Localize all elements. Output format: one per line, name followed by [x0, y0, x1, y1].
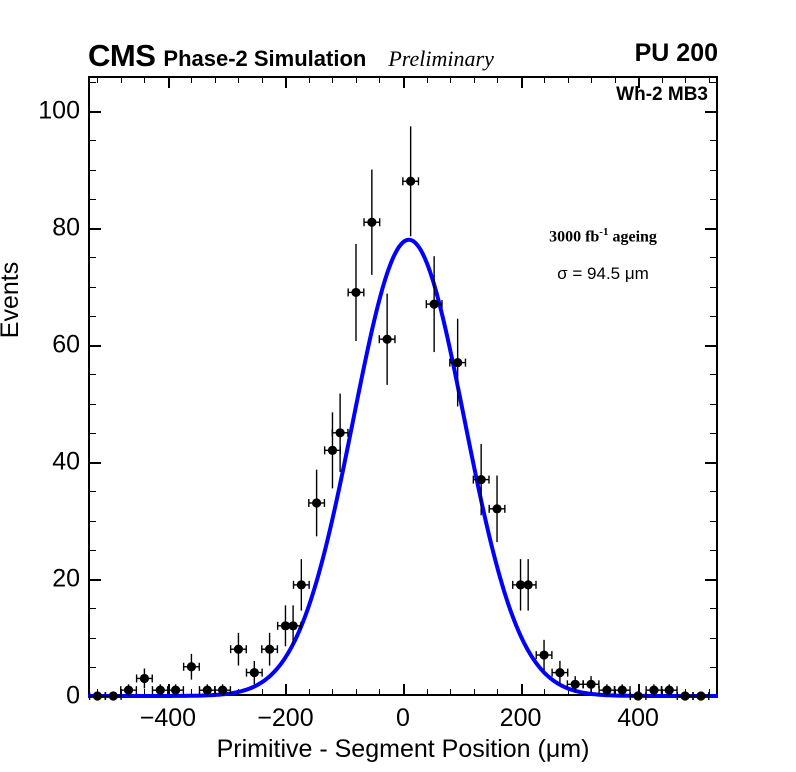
plot-panel: Wh-2 MB3 3000 fb-1 ageing σ = 94.5 μm: [88, 76, 718, 696]
cms-header-left: CMS Phase-2 Simulation Preliminary: [88, 40, 494, 71]
y-tick-major-right: [705, 111, 718, 113]
x-tick-major-top: [403, 76, 405, 88]
x-tick-minor: [215, 689, 216, 696]
y-tick-minor-right: [710, 287, 718, 288]
x-tick-major-top: [285, 76, 287, 88]
y-tick-minor-right: [710, 316, 718, 317]
x-tick-label: 400: [617, 704, 659, 733]
x-tick-minor-top: [97, 76, 98, 83]
y-tick-minor: [88, 404, 96, 405]
y-tick-minor-right: [710, 82, 718, 83]
y-tick-minor: [88, 638, 96, 639]
x-tick-minor: [97, 689, 98, 696]
x-tick-minor-top: [685, 76, 686, 83]
x-tick-minor: [709, 689, 710, 696]
x-tick-label: −200: [257, 704, 313, 733]
y-tick-major-right: [705, 462, 718, 464]
x-tick-label: 200: [500, 704, 542, 733]
y-tick-label: 20: [22, 565, 80, 594]
x-tick-minor: [591, 689, 592, 696]
y-tick-minor-right: [710, 140, 718, 141]
y-tick-minor: [88, 608, 96, 609]
x-tick-minor-top: [427, 76, 428, 83]
y-tick-minor: [88, 433, 96, 434]
y-tick-minor-right: [710, 638, 718, 639]
x-tick-minor: [568, 689, 569, 696]
y-tick-major: [88, 462, 101, 464]
pileup-label: PU 200: [635, 40, 718, 68]
x-tick-major-top: [168, 76, 170, 88]
x-tick-minor-top: [497, 76, 498, 83]
y-tick-minor: [88, 521, 96, 522]
y-tick-major: [88, 228, 101, 230]
x-tick-minor-top: [474, 76, 475, 83]
y-tick-minor: [88, 667, 96, 668]
y-tick-minor-right: [710, 404, 718, 405]
x-tick-minor: [615, 689, 616, 696]
x-tick-minor: [332, 689, 333, 696]
x-tick-major: [521, 684, 523, 696]
y-tick-minor-right: [710, 257, 718, 258]
x-tick-minor-top: [544, 76, 545, 83]
y-tick-label: 80: [22, 214, 80, 243]
cms-logo: CMS: [88, 40, 155, 71]
x-tick-minor: [544, 689, 545, 696]
x-tick-minor: [685, 689, 686, 696]
resolution-label: σ = 94.5 μm: [488, 264, 718, 284]
x-tick-minor: [121, 689, 122, 696]
x-tick-minor: [262, 689, 263, 696]
x-tick-major-top: [638, 76, 640, 88]
x-axis-title: Primitive - Segment Position (μm): [88, 735, 718, 764]
annotation-box: 3000 fb-1 ageing σ = 94.5 μm: [488, 226, 718, 296]
simulation-label: Phase-2 Simulation: [163, 48, 366, 70]
y-axis-title: Events: [0, 262, 25, 338]
y-tick-minor-right: [710, 550, 718, 551]
preliminary-label: Preliminary: [388, 48, 494, 70]
x-tick-minor: [309, 689, 310, 696]
x-tick-minor-top: [568, 76, 569, 83]
x-tick-minor: [356, 689, 357, 696]
y-tick-minor: [88, 257, 96, 258]
y-tick-major: [88, 111, 101, 113]
y-tick-label: 40: [22, 448, 80, 477]
x-tick-minor-top: [591, 76, 592, 83]
x-tick-minor-top: [215, 76, 216, 83]
y-tick-minor: [88, 82, 96, 83]
x-tick-major: [168, 684, 170, 696]
x-tick-minor: [379, 689, 380, 696]
y-tick-major: [88, 345, 101, 347]
x-tick-minor: [238, 689, 239, 696]
x-tick-minor: [497, 689, 498, 696]
x-tick-minor-top: [662, 76, 663, 83]
x-tick-minor-top: [191, 76, 192, 83]
y-tick-major-right: [705, 696, 718, 698]
x-tick-minor: [662, 689, 663, 696]
x-tick-minor-top: [309, 76, 310, 83]
y-tick-minor: [88, 140, 96, 141]
x-tick-minor: [450, 689, 451, 696]
y-tick-minor: [88, 374, 96, 375]
x-tick-major: [285, 684, 287, 696]
chamber-label: Wh-2 MB3: [616, 84, 708, 106]
y-tick-major-right: [705, 579, 718, 581]
y-tick-minor-right: [710, 491, 718, 492]
y-tick-minor-right: [710, 374, 718, 375]
y-tick-minor-right: [710, 199, 718, 200]
y-tick-minor: [88, 287, 96, 288]
y-tick-minor: [88, 316, 96, 317]
x-tick-minor: [191, 689, 192, 696]
x-tick-major: [638, 684, 640, 696]
y-tick-minor: [88, 170, 96, 171]
y-tick-major: [88, 696, 101, 698]
x-tick-minor: [427, 689, 428, 696]
x-tick-label: 0: [396, 704, 410, 733]
y-tick-minor-right: [710, 433, 718, 434]
y-tick-label: 60: [22, 331, 80, 360]
y-tick-minor: [88, 199, 96, 200]
plot-canvas: CMS Phase-2 Simulation Preliminary PU 20…: [0, 0, 796, 772]
y-tick-label: 0: [22, 682, 80, 711]
x-tick-minor-top: [615, 76, 616, 83]
x-tick-minor-top: [238, 76, 239, 83]
x-tick-major: [403, 684, 405, 696]
y-tick-minor: [88, 491, 96, 492]
x-tick-minor-top: [121, 76, 122, 83]
y-tick-minor: [88, 550, 96, 551]
cms-header: CMS Phase-2 Simulation Preliminary PU 20…: [88, 40, 718, 72]
y-tick-minor-right: [710, 521, 718, 522]
y-tick-major: [88, 579, 101, 581]
x-tick-minor: [474, 689, 475, 696]
y-tick-minor-right: [710, 170, 718, 171]
x-tick-label: −400: [140, 704, 196, 733]
y-tick-label: 100: [22, 97, 80, 126]
x-tick-minor-top: [332, 76, 333, 83]
x-tick-minor-top: [450, 76, 451, 83]
y-tick-minor-right: [710, 608, 718, 609]
x-tick-minor-top: [262, 76, 263, 83]
x-tick-minor: [144, 689, 145, 696]
x-tick-minor-top: [144, 76, 145, 83]
ageing-label: 3000 fb-1 ageing: [488, 226, 718, 246]
x-tick-minor-top: [356, 76, 357, 83]
x-tick-major-top: [521, 76, 523, 88]
y-tick-major-right: [705, 228, 718, 230]
x-tick-minor-top: [379, 76, 380, 83]
y-tick-minor-right: [710, 667, 718, 668]
y-tick-major-right: [705, 345, 718, 347]
